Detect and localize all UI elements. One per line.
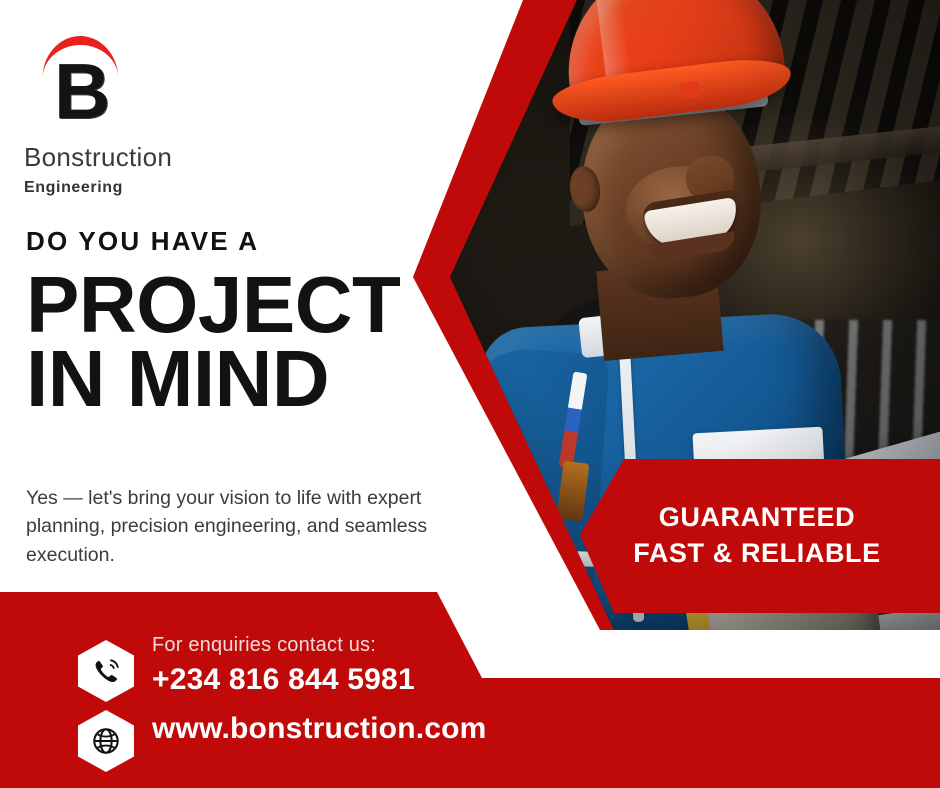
logo-mark: B — [24, 30, 134, 140]
hero-body-text: Yes — let's bring your vision to life wi… — [26, 484, 436, 569]
logo-letter: B — [54, 52, 109, 130]
brand-logo[interactable]: B Bonstruction Engineering — [24, 30, 284, 197]
guarantee-line-2: FAST & RELIABLE — [633, 538, 881, 570]
brand-subtitle: Engineering — [24, 179, 284, 197]
headline-line-2: IN MIND — [26, 342, 446, 416]
globe-icon[interactable] — [78, 710, 134, 772]
promotional-poster: B Bonstruction Engineering DO YOU HAVE A… — [0, 0, 940, 788]
phone-number[interactable]: +234 816 844 5981 — [152, 662, 487, 699]
contact-text: For enquiries contact us: +234 816 844 5… — [152, 634, 487, 747]
brand-name: Bonstruction — [24, 142, 284, 173]
contact-block: For enquiries contact us: +234 816 844 5… — [78, 634, 778, 772]
guarantee-badge: GUARANTEED FAST & RELIABLE — [574, 455, 940, 617]
phone-ringing-icon[interactable] — [78, 640, 134, 702]
hero-copy: DO YOU HAVE A PROJECT IN MIND — [26, 228, 446, 415]
contact-icons — [78, 634, 134, 772]
guarantee-line-1: GUARANTEED — [659, 502, 856, 534]
enquiries-label: For enquiries contact us: — [152, 634, 487, 657]
hero-eyebrow: DO YOU HAVE A — [26, 228, 446, 254]
website-url[interactable]: www.bonstruction.com — [152, 711, 487, 748]
hero-headline: PROJECT IN MIND — [26, 268, 446, 415]
